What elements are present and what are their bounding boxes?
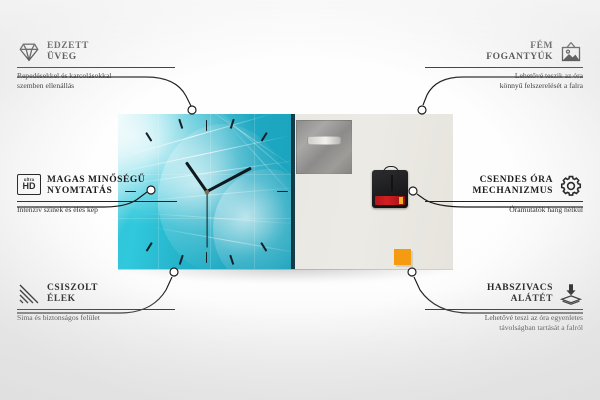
callout-header: HABSZIVACS ALÁTÉT [425, 282, 583, 306]
infographic-canvas: EDZETT ÜVEG Repedésekkel és karcolásokka… [0, 0, 600, 400]
callout-title: FÉM FOGANTYÚK [486, 41, 553, 64]
callout-rule [17, 201, 177, 202]
clock-movement [372, 170, 408, 208]
callout-header: ultra HD MAGAS MINŐSÉGŰ NYOMTATÁS [17, 174, 177, 198]
minute-hand [206, 167, 252, 193]
press-down-layers-icon [559, 282, 583, 306]
battery [375, 196, 405, 205]
callout-rule [425, 201, 583, 202]
callout-title: CSENDES ÓRA MECHANIZMUS [473, 175, 553, 198]
metal-hanger-plate [296, 120, 352, 174]
callout-rule [425, 309, 583, 310]
movement-loop [383, 166, 399, 174]
callout-hd-print: ultra HD MAGAS MINŐSÉGŰ NYOMTATÁS Intenz… [17, 174, 177, 215]
callout-foam-pad: HABSZIVACS ALÁTÉT Lehetővé teszi az óra … [425, 282, 583, 332]
callout-metal-handles: FÉM FOGANTYÚK Lehetővé teszik az óra kön… [425, 40, 583, 90]
hatch-lines-icon [17, 282, 41, 306]
foam-pad [394, 249, 411, 265]
callout-silent-mechanism: CSENDES ÓRA MECHANIZMUS Óramutatók hang … [425, 174, 583, 215]
leader-endpoint-metal-handles [418, 106, 426, 114]
callout-polished-edges: CSISZOLT ÉLEK Sima és biztonságos felüle… [17, 282, 175, 323]
callout-title: HABSZIVACS ALÁTÉT [487, 283, 553, 306]
picture-hanger-icon [559, 40, 583, 64]
callout-header: CSENDES ÓRA MECHANIZMUS [425, 174, 583, 198]
callout-rule [425, 67, 583, 68]
callout-header: FÉM FOGANTYÚK [425, 40, 583, 64]
callout-title: EDZETT ÜVEG [47, 41, 89, 64]
diamond-icon [17, 40, 41, 64]
clock-center-hub [205, 190, 209, 194]
callout-rule [17, 309, 175, 310]
callout-header: CSISZOLT ÉLEK [17, 282, 175, 306]
hour-hand [184, 161, 207, 192]
battery-terminal [399, 197, 403, 204]
second-hand [206, 192, 207, 248]
callout-header: EDZETT ÜVEG [17, 40, 175, 64]
callout-tempered-glass: EDZETT ÜVEG Repedésekkel és karcolásokka… [17, 40, 175, 90]
hanger-slot [307, 136, 341, 145]
ultra-hd-icon: ultra HD [17, 174, 41, 198]
movement-seam [391, 175, 393, 191]
gear-icon [559, 174, 583, 198]
callout-title: MAGAS MINŐSÉGŰ NYOMTATÁS [47, 175, 145, 198]
callout-title: CSISZOLT ÉLEK [47, 283, 98, 306]
leader-endpoint-tempered-glass [188, 106, 196, 114]
callout-rule [17, 67, 175, 68]
